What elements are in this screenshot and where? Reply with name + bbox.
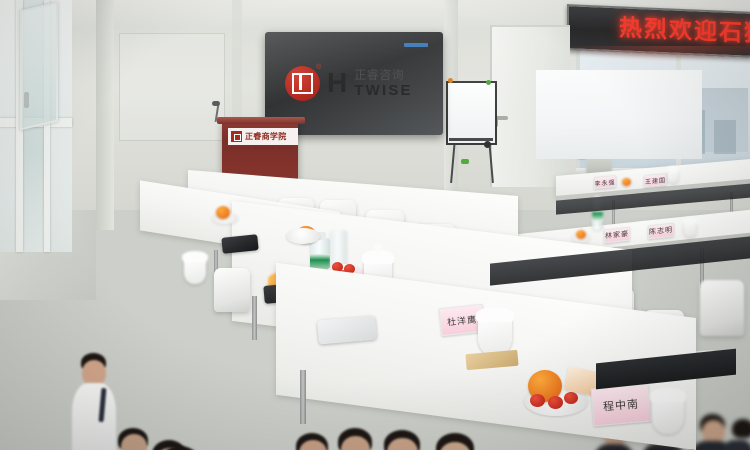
logo-wordmark: 正睿咨询 TWISE [354, 69, 413, 98]
wall-seam-center [232, 0, 242, 130]
led-banner-text: 热烈欢迎石狮 [619, 15, 750, 47]
name-card: 陈志明 [648, 223, 674, 240]
wall-frame-decor [119, 33, 225, 141]
bottle-label [592, 210, 603, 221]
window-handle[interactable] [24, 92, 29, 108]
presentation-display-screen [536, 70, 702, 159]
teacup-lid [667, 166, 679, 172]
name-card: 林家豪 [604, 227, 630, 244]
logo-glyph-icon [292, 73, 313, 94]
flipchart-clip-green-icon [486, 80, 491, 85]
chair-back [700, 280, 744, 336]
fruit-plate [286, 228, 320, 244]
teacup-lid[interactable] [476, 307, 514, 322]
cherry-tomato [530, 394, 545, 407]
table-leg [252, 296, 257, 340]
logo-chinese-text: 正睿咨询 [354, 69, 413, 81]
podium-organization-name: 正睿商学院 [245, 133, 287, 141]
cherry-tomato [548, 396, 563, 409]
podium-subtitle: ZHENGRUI BUSINESS SCHOOL [230, 146, 294, 150]
fruit-orange [216, 206, 230, 219]
window-open-sash[interactable] [20, 2, 58, 131]
podium-top-surface [217, 117, 305, 124]
teacup-knob [490, 300, 499, 309]
logo-seal-icon: ® [285, 66, 320, 101]
wall-column-left [96, 0, 114, 230]
teacup-lid [650, 388, 686, 402]
teacup [684, 222, 696, 237]
name-card: 程中南 [590, 384, 651, 427]
whiteboard-marker [461, 159, 469, 164]
flipchart-board [446, 81, 497, 145]
name-card: 李永强 [594, 175, 616, 189]
chair-back [214, 268, 250, 312]
table-leg [300, 370, 306, 424]
teacup-lid [182, 251, 208, 262]
registered-mark: ® [316, 64, 321, 71]
fruit-orange [622, 178, 631, 186]
flipchart-adjust-knob[interactable] [484, 141, 491, 148]
podium-microphone-head [212, 101, 220, 106]
podium-logo-icon [231, 131, 242, 142]
logo-letter: H [327, 70, 347, 96]
fruit-orange [576, 230, 586, 239]
teacup-lid [683, 217, 697, 224]
smartphone-white[interactable] [317, 316, 377, 345]
podium-branding-panel: 正睿商学院 [228, 128, 298, 145]
company-logo: ® H 正睿咨询 TWISE [285, 60, 425, 106]
led-banner-glow [560, 46, 750, 62]
flipchart-clip-orange-icon [448, 78, 453, 83]
name-card: 王建国 [644, 173, 667, 187]
teacup-lid[interactable] [362, 250, 394, 264]
cherry-tomato [564, 392, 578, 404]
screen-status-indicator [404, 43, 428, 47]
logo-english-text: TWISE [354, 83, 413, 98]
seminar-room-photo: 热烈欢迎石狮 ® H 正睿咨询 TWISE 正睿商学院 ZHE [0, 0, 750, 450]
teacup-knob [374, 244, 382, 252]
